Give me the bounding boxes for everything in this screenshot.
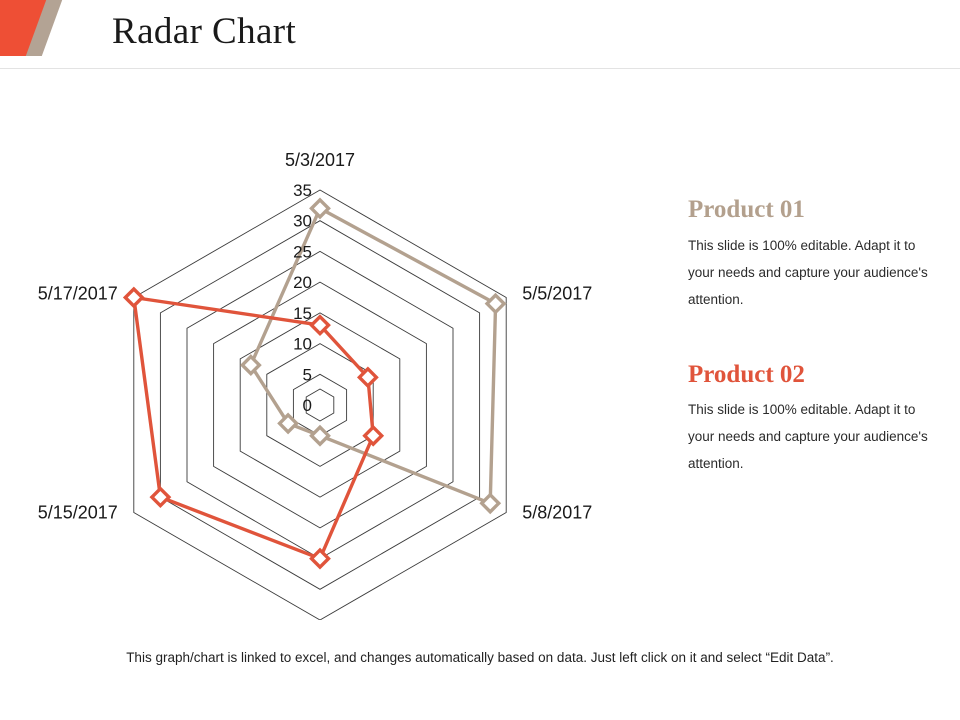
radar-category-label: 5/5/2017 xyxy=(522,284,592,304)
product-title-2: Product 02 xyxy=(688,361,940,389)
radar-series-line-2 xyxy=(134,298,373,559)
radar-series-line-1 xyxy=(251,208,496,503)
radar-category-label: 5/3/2017 xyxy=(285,150,355,170)
product-body-2: This slide is 100% editable. Adapt it to… xyxy=(688,396,940,477)
product-title-1: Product 01 xyxy=(688,196,940,224)
radar-marker[interactable] xyxy=(482,495,499,512)
radar-tick-label: 25 xyxy=(293,242,312,261)
radar-tick-label: 20 xyxy=(293,273,312,292)
radar-chart-canvas[interactable]: 05101520253035 5/3/20175/5/20175/8/20174… xyxy=(20,140,660,620)
radar-marker[interactable] xyxy=(280,415,297,432)
radar-category-label: 5/8/2017 xyxy=(522,503,592,523)
radar-tick-label: 35 xyxy=(293,181,312,200)
radar-tick-label: 5 xyxy=(303,365,312,384)
product-block-1: Product 01 This slide is 100% editable. … xyxy=(688,196,940,313)
slide-header: Radar Chart xyxy=(0,0,960,70)
product-block-2: Product 02 This slide is 100% editable. … xyxy=(688,361,940,478)
radar-chart[interactable]: 05101520253035 5/3/20175/5/20175/8/20174… xyxy=(20,140,660,620)
page-title: Radar Chart xyxy=(112,10,296,53)
radar-marker[interactable] xyxy=(152,489,169,506)
header-divider xyxy=(0,68,960,69)
radar-marker[interactable] xyxy=(312,550,329,567)
radar-tick-label: 30 xyxy=(293,212,312,231)
radar-tick-label: 0 xyxy=(303,396,312,415)
radar-tick-label: 10 xyxy=(293,335,312,354)
radar-marker[interactable] xyxy=(312,200,329,217)
product-panel: Product 01 This slide is 100% editable. … xyxy=(688,196,940,525)
product-body-1: This slide is 100% editable. Adapt it to… xyxy=(688,232,940,313)
radar-marker[interactable] xyxy=(487,295,504,312)
radar-category-label: 5/15/2017 xyxy=(38,503,118,523)
radar-marker[interactable] xyxy=(365,427,382,444)
radar-marker[interactable] xyxy=(125,289,142,306)
radar-series-group[interactable] xyxy=(125,200,504,567)
footer-note: This graph/chart is linked to excel, and… xyxy=(0,650,960,665)
radar-marker[interactable] xyxy=(312,427,329,444)
radar-marker[interactable] xyxy=(242,357,259,374)
radar-tick-labels: 05101520253035 xyxy=(293,181,312,415)
radar-category-label: 5/17/2017 xyxy=(38,284,118,304)
radar-tick-label: 15 xyxy=(293,304,312,323)
